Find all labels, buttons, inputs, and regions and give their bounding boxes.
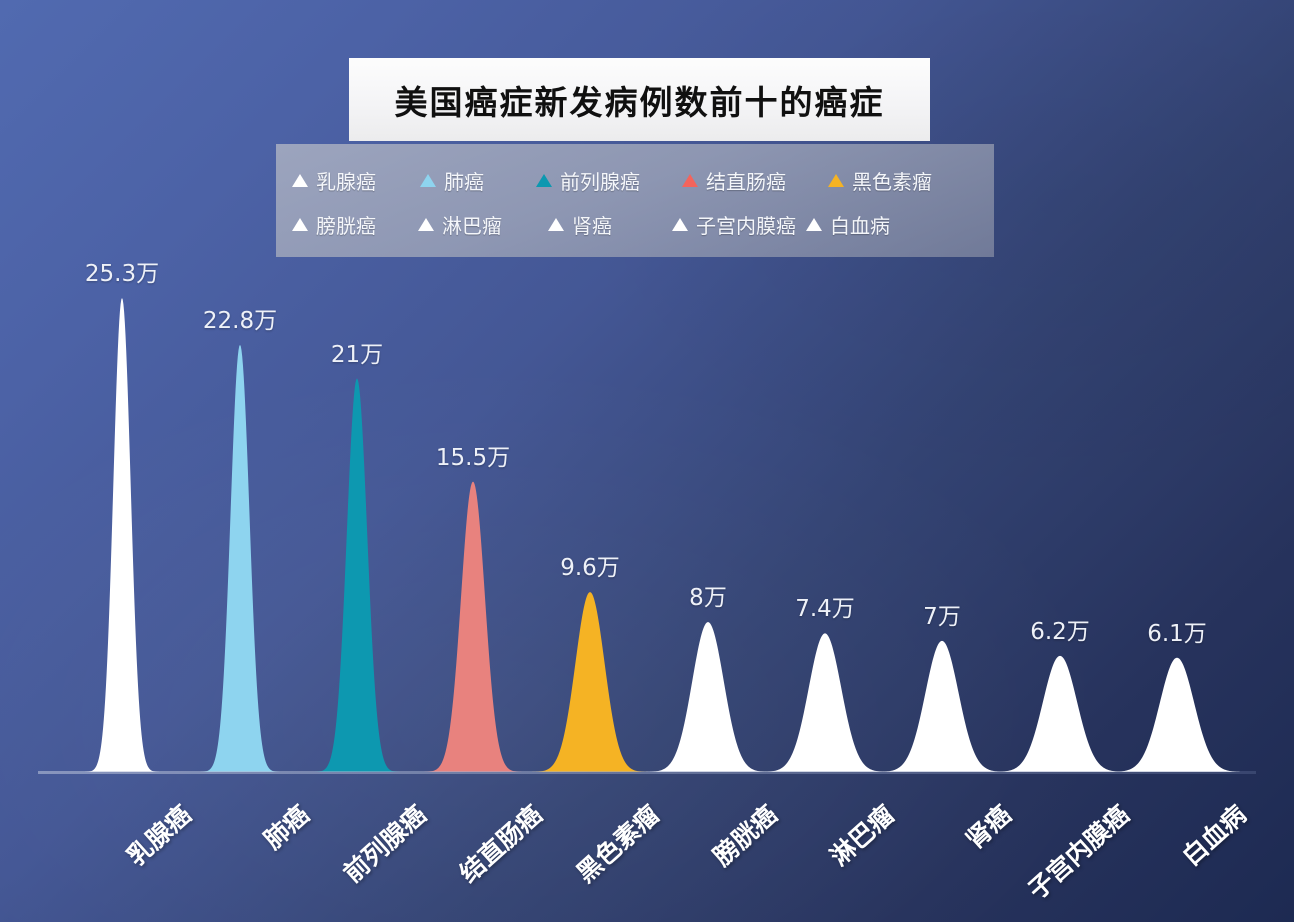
legend-marker-triangle-icon [828,174,844,187]
legend-item-膀胱癌[interactable]: 膀胱癌 [292,210,376,239]
legend-marker-triangle-icon [672,218,688,231]
legend-marker-triangle-icon [420,174,436,187]
legend-marker-triangle-icon [292,174,308,187]
legend-marker-triangle-icon [292,218,308,231]
chart-legend: 乳腺癌肺癌前列腺癌结直肠癌黑色素瘤 膀胱癌淋巴瘤肾癌子宫内膜癌白血病 [276,144,994,257]
x-axis-label-肺癌: 肺癌 [255,796,316,856]
legend-marker-triangle-icon [536,174,552,187]
bell-curve-结直肠癌 [412,482,534,772]
bell-curve-淋巴瘤 [762,633,888,772]
legend-item-乳腺癌[interactable]: 乳腺癌 [292,166,376,195]
legend-marker-triangle-icon [418,218,434,231]
value-label-前列腺癌: 21万 [331,335,383,369]
legend-row-2: 膀胱癌淋巴瘤肾癌子宫内膜癌白血病 [292,202,978,246]
legend-item-前列腺癌[interactable]: 前列腺癌 [536,166,640,195]
x-axis-label-乳腺癌: 乳腺癌 [118,796,198,873]
legend-item-label: 前列腺癌 [560,166,640,195]
legend-marker-triangle-icon [806,218,822,231]
bell-curve-黑色素瘤 [528,592,652,772]
bell-curve-子宫内膜癌 [997,656,1123,772]
x-axis-label-白血病: 白血病 [1173,796,1253,873]
x-axis-label-淋巴瘤: 淋巴瘤 [821,796,901,873]
chart-canvas: 美国癌症新发病例数前十的癌症 乳腺癌肺癌前列腺癌结直肠癌黑色素瘤 膀胱癌淋巴瘤肾… [0,0,1294,922]
x-axis-label-子宫内膜癌: 子宫内膜癌 [1019,796,1136,906]
value-label-乳腺癌: 25.3万 [85,254,159,288]
chart-baseline [38,771,1256,774]
value-label-白血病: 6.1万 [1147,614,1207,648]
value-label-结直肠癌: 15.5万 [436,438,510,472]
value-label-肾癌: 7万 [923,597,961,631]
legend-item-黑色素瘤[interactable]: 黑色素瘤 [828,166,932,195]
value-label-肺癌: 22.8万 [203,301,277,335]
legend-item-label: 肾癌 [572,210,612,239]
legend-item-label: 结直肠癌 [706,166,786,195]
legend-item-label: 膀胱癌 [316,210,376,239]
legend-item-肾癌[interactable]: 肾癌 [548,210,612,239]
legend-item-label: 子宫内膜癌 [696,210,796,239]
bell-curve-前列腺癌 [297,379,417,772]
legend-item-label: 淋巴瘤 [442,210,502,239]
legend-marker-triangle-icon [682,174,698,187]
value-label-子宫内膜癌: 6.2万 [1030,612,1090,646]
legend-item-label: 白血病 [830,210,890,239]
legend-row-1: 乳腺癌肺癌前列腺癌结直肠癌黑色素瘤 [292,158,978,202]
value-label-黑色素瘤: 9.6万 [560,548,620,582]
legend-item-label: 黑色素瘤 [852,166,932,195]
legend-item-结直肠癌[interactable]: 结直肠癌 [682,166,786,195]
x-axis-label-肾癌: 肾癌 [957,796,1018,856]
page-title: 美国癌症新发病例数前十的癌症 [395,76,885,124]
legend-item-淋巴瘤[interactable]: 淋巴瘤 [418,210,502,239]
x-axis-label-结直肠癌: 结直肠癌 [451,796,549,890]
x-axis-label-膀胱癌: 膀胱癌 [704,796,784,873]
bell-curve-肺癌 [181,345,299,772]
x-axis-label-前列腺癌: 前列腺癌 [335,796,433,890]
bell-curve-肾癌 [879,641,1005,772]
legend-item-label: 乳腺癌 [316,166,376,195]
legend-item-肺癌[interactable]: 肺癌 [420,166,484,195]
legend-marker-triangle-icon [548,218,564,231]
legend-item-白血病[interactable]: 白血病 [806,210,890,239]
value-label-淋巴瘤: 7.4万 [795,589,855,623]
value-label-膀胱癌: 8万 [689,578,727,612]
legend-item-label: 肺癌 [444,166,484,195]
legend-item-子宫内膜癌[interactable]: 子宫内膜癌 [672,210,796,239]
bell-curve-膀胱癌 [645,622,771,772]
bell-curve-乳腺癌 [66,298,178,772]
bell-curve-白血病 [1114,658,1240,772]
chart-title-panel: 美国癌症新发病例数前十的癌症 [349,58,930,141]
x-axis-label-黑色素瘤: 黑色素瘤 [568,796,666,890]
